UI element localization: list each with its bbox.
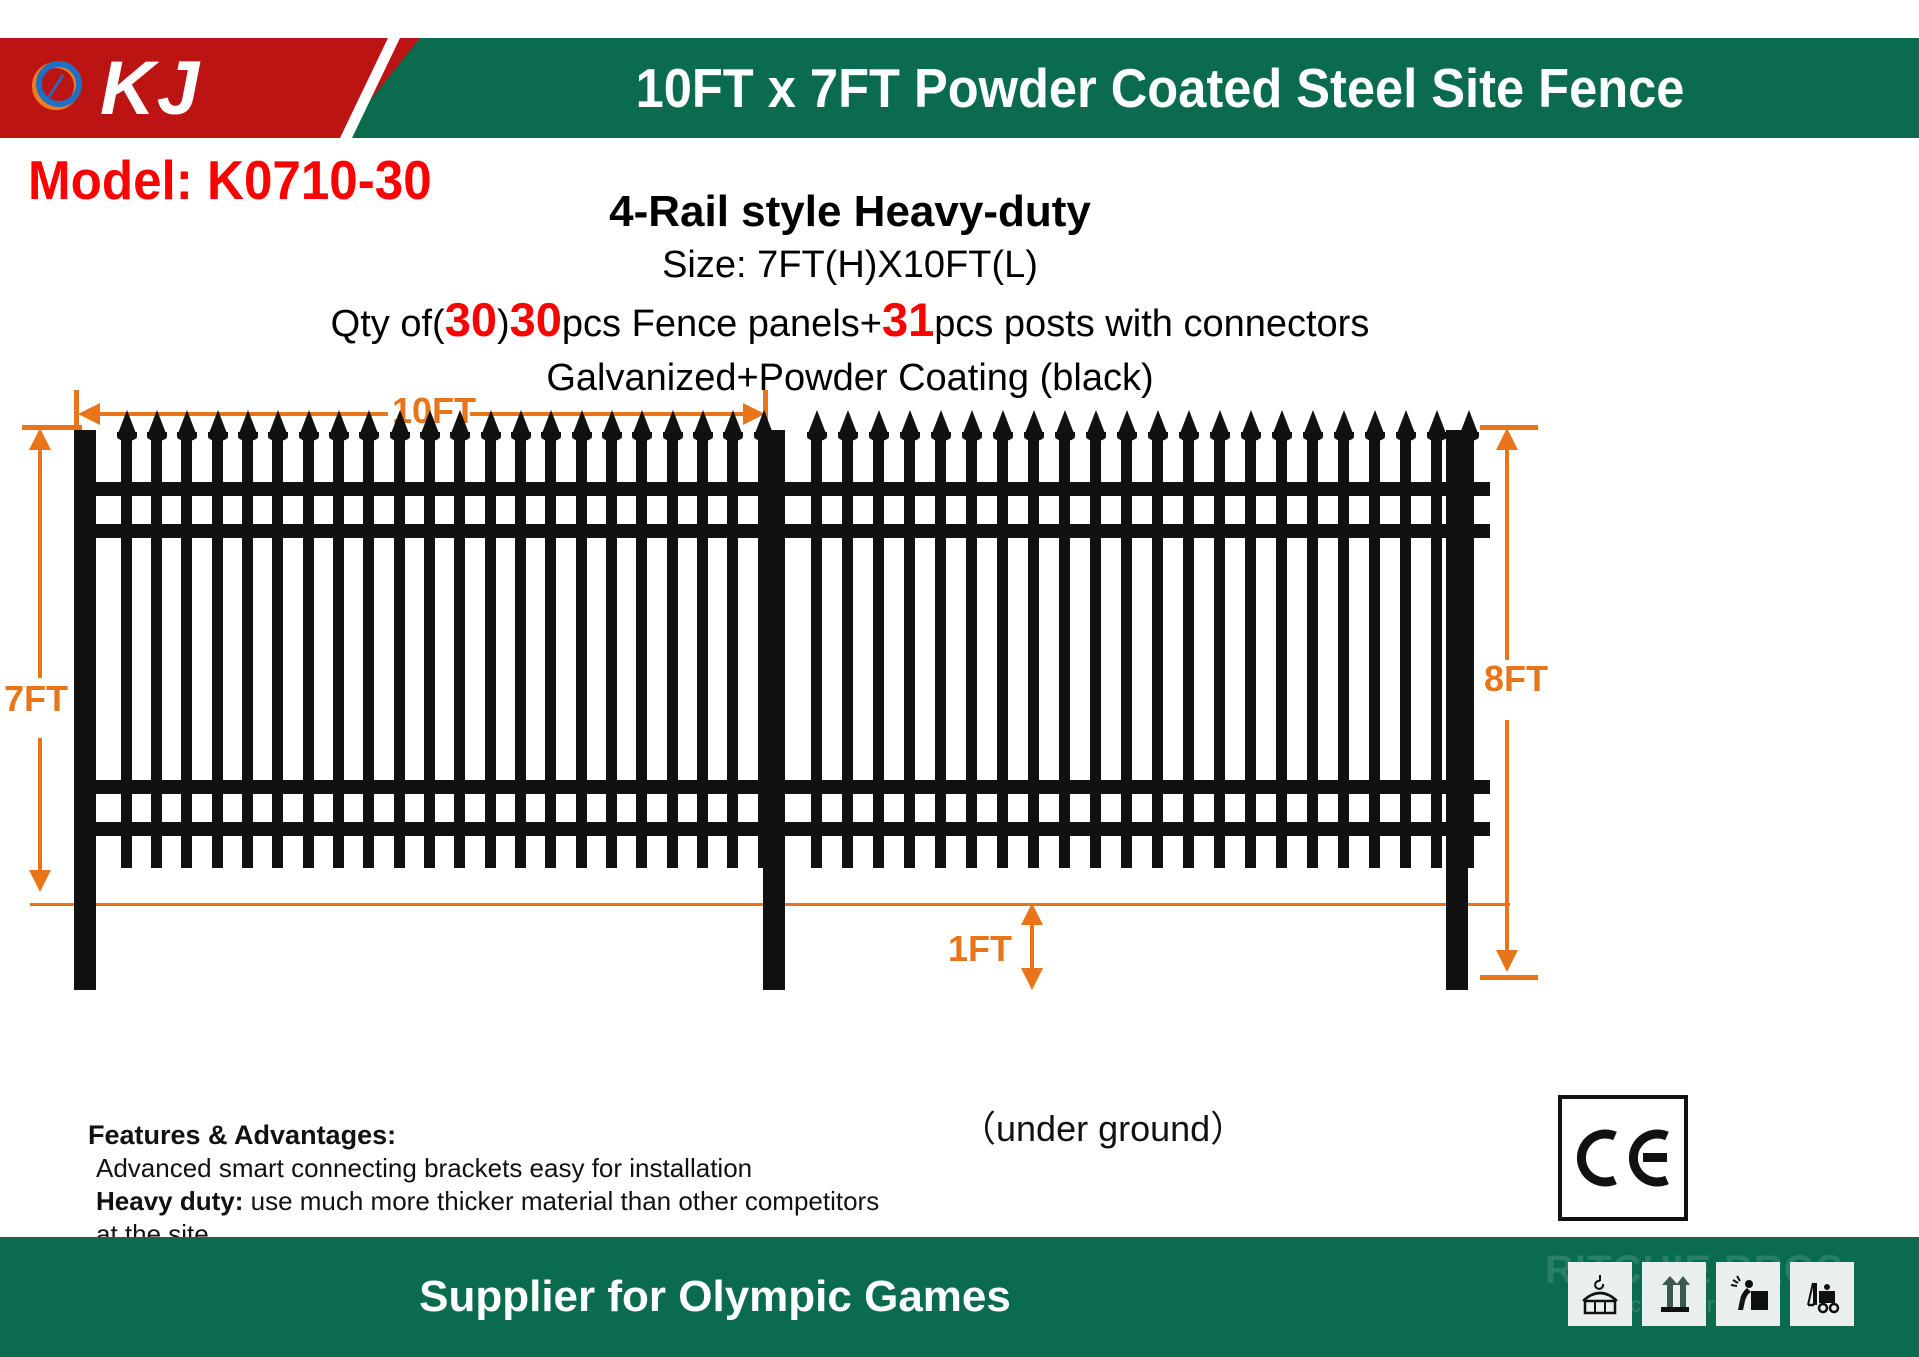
spec-size: Size: 7FT(H)X10FT(L) — [260, 239, 1440, 291]
picket-spear-tip — [900, 410, 920, 436]
fence-picket — [873, 438, 884, 868]
dim-1ft-arrow-bottom — [1021, 968, 1043, 990]
picket-spear-tip — [117, 410, 137, 436]
fence-rail — [763, 822, 1490, 836]
specification-block: 4-Rail style Heavy-duty Size: 7FT(H)X10F… — [260, 185, 1440, 403]
fence-picket — [151, 438, 162, 868]
fence-post — [763, 430, 785, 990]
fence-picket — [1369, 438, 1380, 868]
dim-7ft-arrow-top — [29, 428, 51, 450]
fence-picket — [935, 438, 946, 868]
shipping-icon-row — [1568, 1262, 1854, 1326]
brand-name: KJ — [100, 44, 201, 134]
fence-picket — [121, 438, 132, 868]
fence-picket — [904, 438, 915, 868]
picket-spear-tip — [572, 410, 592, 436]
fence-picket — [545, 438, 556, 868]
fence-picket — [636, 438, 647, 868]
picket-spear-tip — [208, 410, 228, 436]
picket-spear-tip — [329, 410, 349, 436]
qty-posts-text: pcs posts with connectors — [934, 303, 1369, 345]
underground-note: （under ground） — [960, 1100, 1246, 1152]
features-line-1: Advanced smart connecting brackets easy … — [88, 1152, 908, 1185]
picket-spear-tip — [177, 410, 197, 436]
picket-spear-tip — [1241, 410, 1261, 436]
fence-picket — [1245, 438, 1256, 868]
features-block: Features & Advantages: Advanced smart co… — [88, 1118, 908, 1251]
picket-spear-tip — [147, 410, 167, 436]
picket-spear-tip — [1148, 410, 1168, 436]
fence-picket — [454, 438, 465, 868]
fence-picket — [1214, 438, 1225, 868]
fence-picket — [363, 438, 374, 868]
qty-panels-text: pcs Fence panels+ — [562, 303, 882, 345]
dim-7ft-arrow-bottom — [29, 870, 51, 892]
picket-spear-tip — [602, 410, 622, 436]
page-title: 10FT x 7FT Powder Coated Steel Site Fenc… — [479, 38, 1841, 138]
dim-7ft-line-upper — [38, 448, 42, 678]
picket-spear-tip — [962, 410, 982, 436]
fence-picket — [181, 438, 192, 868]
picket-spear-tip — [993, 410, 1013, 436]
footer-tagline: Supplier for Olympic Games — [0, 1237, 1430, 1357]
qty-posts-value: 31 — [882, 293, 934, 346]
picket-spear-tip — [632, 410, 652, 436]
picket-spear-tip — [931, 410, 951, 436]
fence-picket — [303, 438, 314, 868]
fence-picket — [842, 438, 853, 868]
dim-8ft-label: 8FT — [1484, 658, 1548, 700]
fence-picket — [1276, 438, 1287, 868]
picket-spear-tip — [1272, 410, 1292, 436]
fence-rail — [74, 780, 785, 794]
ce-mark-badge — [1558, 1095, 1688, 1221]
crane-lift-icon — [1568, 1262, 1632, 1326]
picket-spear-tip — [1055, 410, 1075, 436]
dim-1ft-arrow-top — [1021, 903, 1043, 925]
picket-spear-tip — [807, 410, 827, 436]
fence-picket — [1400, 438, 1411, 868]
picket-spear-tip — [238, 410, 258, 436]
picket-spear-tip — [1117, 410, 1137, 436]
fence-picket — [333, 438, 344, 868]
dim-8ft-arrow-bottom — [1496, 950, 1518, 972]
fence-picket — [1338, 438, 1349, 868]
picket-spear-tip — [1086, 410, 1106, 436]
picket-spear-tip — [838, 410, 858, 436]
fence-picket — [272, 438, 283, 868]
fence-picket — [515, 438, 526, 868]
features-line-2-label: Heavy duty: — [96, 1186, 243, 1216]
dim-10ft-arrow-left — [78, 403, 100, 425]
fence-picket — [697, 438, 708, 868]
fence-picket — [966, 438, 977, 868]
dim-8ft-line-upper — [1505, 448, 1509, 660]
spec-style: 4-Rail style Heavy-duty — [260, 185, 1440, 239]
picket-spear-tip — [1303, 410, 1323, 436]
fence-picket — [1152, 438, 1163, 868]
picket-spear-tip — [359, 410, 379, 436]
fence-rail — [74, 524, 785, 538]
fence-picket — [727, 438, 738, 868]
dim-1ft-label: 1FT — [948, 928, 1012, 970]
picket-spear-tip — [268, 410, 288, 436]
dim-7ft-label: 7FT — [4, 678, 68, 720]
fence-picket — [424, 438, 435, 868]
picket-spear-tip — [693, 410, 713, 436]
fence-picket — [1431, 438, 1442, 868]
fence-picket — [997, 438, 1008, 868]
picket-spear-tip — [511, 410, 531, 436]
picket-spear-tip — [450, 410, 470, 436]
picket-spear-tip — [1396, 410, 1416, 436]
dim-8ft-line-lower — [1505, 720, 1509, 963]
qty-panels-value: 30 — [510, 293, 562, 346]
manual-handling-icon — [1716, 1262, 1780, 1326]
picket-spear-tip — [1334, 410, 1354, 436]
qty-paren-value: 30 — [445, 293, 497, 346]
picket-spear-tip — [1179, 410, 1199, 436]
picket-spear-tip — [1210, 410, 1230, 436]
fence-picket — [242, 438, 253, 868]
picket-spear-tip — [541, 410, 561, 436]
kj-circle-logo-icon — [28, 58, 84, 114]
fence-picket — [667, 438, 678, 868]
picket-spear-tip — [723, 410, 743, 436]
qty-close: ) — [497, 303, 510, 345]
fence-picket — [606, 438, 617, 868]
fence-picket — [1028, 438, 1039, 868]
features-title: Features & Advantages: — [88, 1118, 908, 1152]
fence-picket — [1090, 438, 1101, 868]
fence-rail — [763, 524, 1490, 538]
picket-spear-tip — [663, 410, 683, 436]
qty-prefix: Qty of( — [331, 303, 445, 345]
spec-quantity: Qty of(30)30pcs Fence panels+31pcs posts… — [260, 291, 1440, 353]
fence-picket — [576, 438, 587, 868]
picket-spear-tip — [299, 410, 319, 436]
picket-spear-tip — [481, 410, 501, 436]
fence-rail — [763, 780, 1490, 794]
dim-8ft-arrow-top — [1496, 428, 1518, 450]
fence-post — [1446, 430, 1468, 990]
forklift-icon — [1790, 1262, 1854, 1326]
fence-picket — [1183, 438, 1194, 868]
fence-picket — [394, 438, 405, 868]
fence-post — [74, 430, 96, 990]
fence-picket — [485, 438, 496, 868]
this-side-up-icon — [1642, 1262, 1706, 1326]
fence-picket — [1307, 438, 1318, 868]
dim-7ft-line-lower — [38, 738, 42, 883]
picket-spear-tip — [390, 410, 410, 436]
picket-spear-tip — [1365, 410, 1385, 436]
fence-picket — [212, 438, 223, 868]
fence-rail — [74, 822, 785, 836]
fence-picket — [1121, 438, 1132, 868]
picket-spear-tip — [869, 410, 889, 436]
dim-8ft-tick-bottom — [1480, 975, 1538, 980]
page-header: KJ 10FT x 7FT Powder Coated Steel Site F… — [0, 38, 1919, 138]
picket-spear-tip — [420, 410, 440, 436]
fence-picket — [811, 438, 822, 868]
picket-spear-tip — [1427, 410, 1447, 436]
fence-picket — [1059, 438, 1070, 868]
fence-rail — [74, 482, 785, 496]
picket-spear-tip — [1024, 410, 1044, 436]
fence-rail — [763, 482, 1490, 496]
ce-icon — [1575, 1128, 1671, 1188]
